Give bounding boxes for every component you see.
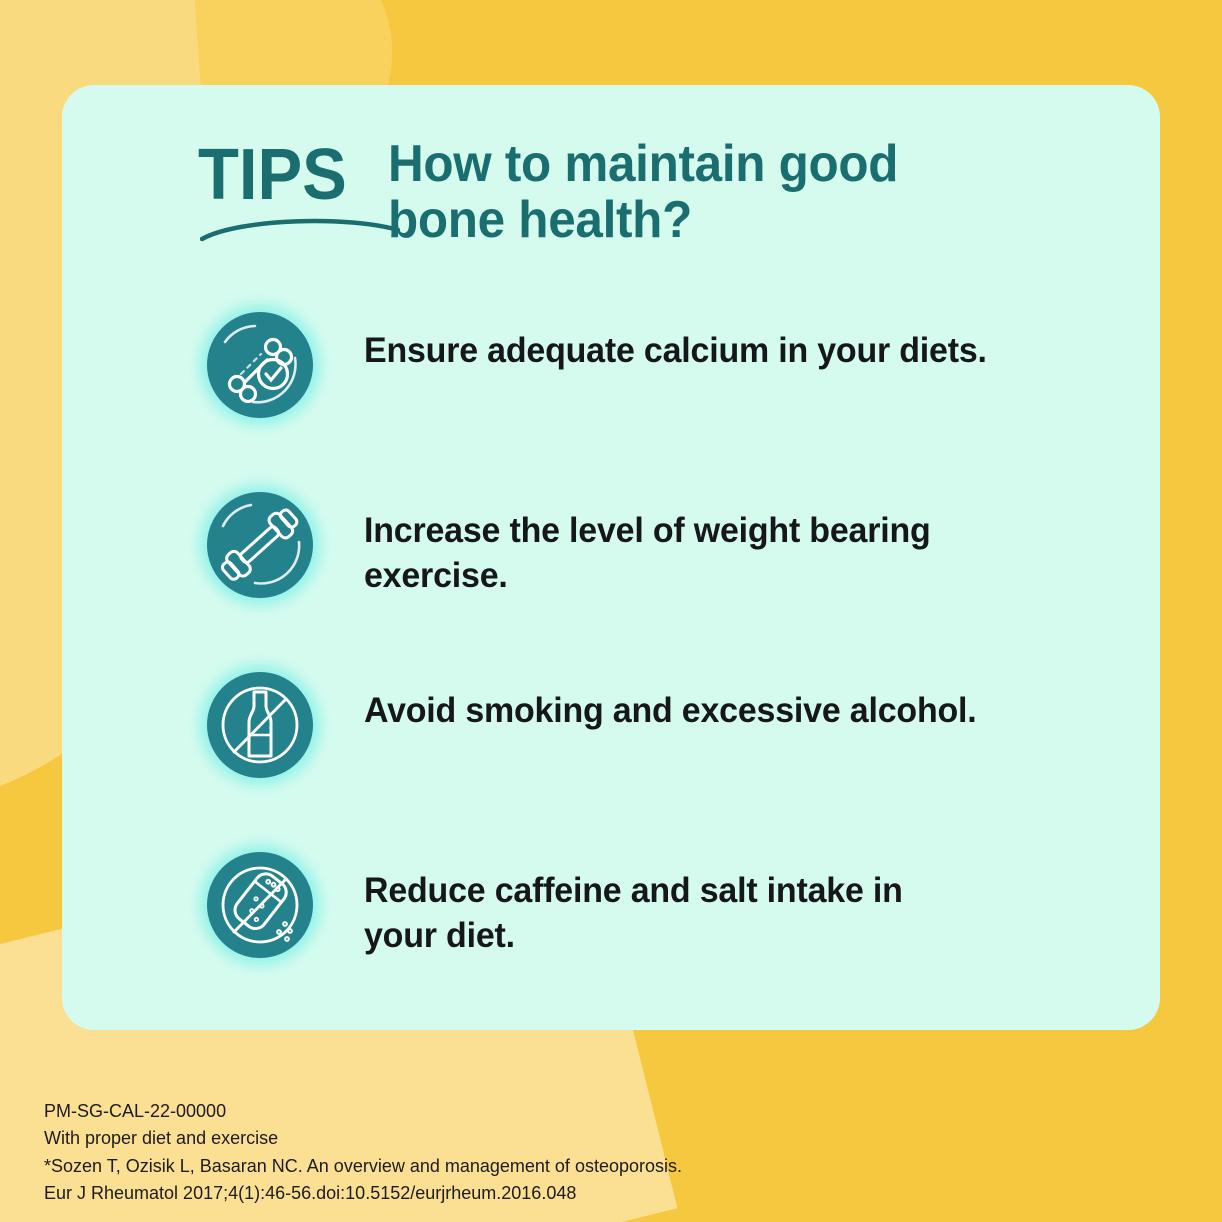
footer-references: PM-SG-CAL-22-00000 With proper diet and … — [44, 1098, 944, 1207]
tip-item-1: Ensure adequate calcium in your diets. — [198, 303, 1128, 483]
footer-citation-line-1: *Sozen T, Ozisik L, Basaran NC. An overv… — [44, 1153, 944, 1180]
footer-disclaimer: With proper diet and exercise — [44, 1125, 944, 1152]
tips-badge: TIPS — [198, 140, 358, 208]
infographic-poster: TIPS How to maintain good bone health? — [0, 0, 1222, 1222]
tip-icon-4 — [198, 843, 322, 967]
tip-text-4-line-2: your diet. — [364, 914, 1105, 959]
page-title-line-1: How to maintain good — [388, 136, 898, 192]
tip-text-1: Ensure adequate calcium in your diets. — [364, 303, 1105, 374]
page-title: How to maintain good bone health? — [388, 136, 898, 248]
card-header: TIPS How to maintain good bone health? — [198, 140, 1098, 248]
footer-code: PM-SG-CAL-22-00000 — [44, 1098, 944, 1125]
tip-item-3: Avoid smoking and excessive alcohol. — [198, 663, 1128, 843]
tip-text-2-line-2: exercise. — [364, 554, 1105, 599]
tip-text-2: Increase the level of weight bearing exe… — [364, 483, 1105, 599]
tip-icon-3 — [198, 663, 322, 787]
footer-citation-line-2: Eur J Rheumatol 2017;4(1):46-56.doi:10.5… — [44, 1180, 944, 1207]
tip-text-2-line-1: Increase the level of weight bearing — [364, 509, 1105, 554]
page-title-line-2: bone health? — [388, 192, 898, 248]
tip-icon-1 — [198, 303, 322, 427]
tip-text-4: Reduce caffeine and salt intake in your … — [364, 843, 1105, 959]
tip-text-3: Avoid smoking and excessive alcohol. — [364, 663, 1105, 734]
tip-icon-2 — [198, 483, 322, 607]
bone-check-icon — [207, 312, 313, 418]
tips-word: TIPS — [198, 142, 347, 208]
tips-card: TIPS How to maintain good bone health? — [62, 85, 1160, 1030]
tip-text-1-line-1: Ensure adequate calcium in your diets. — [364, 329, 1105, 374]
no-alcohol-bottle-icon — [207, 672, 313, 778]
curved-underline-swoosh-icon — [200, 210, 400, 242]
tip-text-3-line-1: Avoid smoking and excessive alcohol. — [364, 689, 1105, 734]
no-salt-shaker-icon — [207, 852, 313, 958]
tip-item-2: Increase the level of weight bearing exe… — [198, 483, 1128, 663]
tips-list: Ensure adequate calcium in your diets. — [198, 303, 1128, 1023]
tip-text-4-line-1: Reduce caffeine and salt intake in — [364, 869, 1105, 914]
dumbbell-icon — [207, 492, 313, 598]
tip-item-4: Reduce caffeine and salt intake in your … — [198, 843, 1128, 1023]
